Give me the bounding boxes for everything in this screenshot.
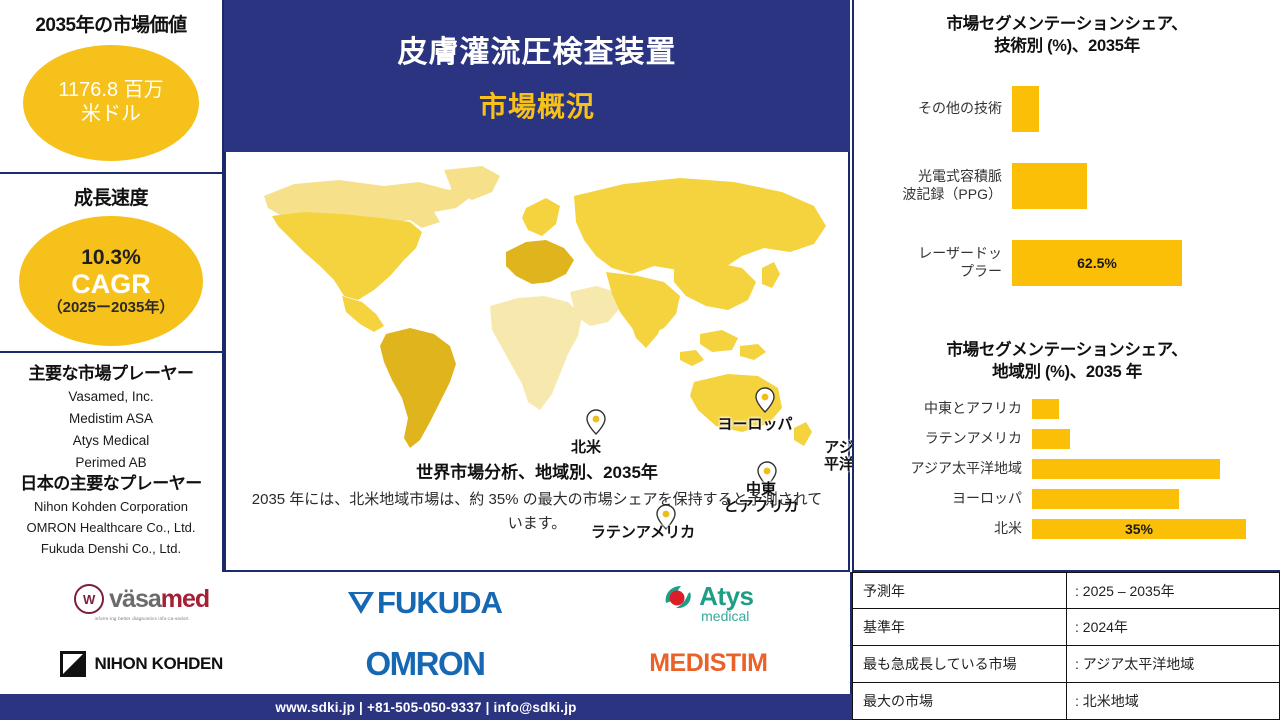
japan-players-block: 日本の主要なプレーヤー Nihon Kohden Corporation OMR… [0, 465, 222, 559]
map-pin-europe [755, 387, 775, 413]
key-players-block: 主要な市場プレーヤー Vasamed, Inc. Medistim ASA At… [0, 353, 222, 465]
omron-wordmark: OMRON [365, 645, 484, 683]
list-item: Atys Medical [0, 430, 222, 452]
bar-europe [1032, 489, 1179, 509]
bar-track [1032, 459, 1280, 479]
bar-laser-doppler: 62.5% [1012, 240, 1182, 286]
map-continents [264, 166, 826, 448]
market-value-ellipse: 1176.8 百万 米ドル [23, 45, 199, 161]
footer-text: www.sdki.jp | +81-505-050-9337 | info@sd… [275, 700, 576, 715]
bar-label: アジア太平洋地域 [854, 460, 1032, 477]
footer-contact-bar: www.sdki.jp | +81-505-050-9337 | info@sd… [0, 694, 852, 720]
map-pin-north-america [586, 409, 606, 435]
bar-middle-east-africa [1032, 399, 1059, 419]
atys-subtitle: medical [701, 608, 749, 624]
growth-rate-title: 成長速度 [0, 183, 222, 210]
world-map: 北米 ヨーロッパ 中東 とアフリカ アジア太 平洋地域 ラテンアメリカ [226, 156, 848, 456]
logo-medistim: MEDISTIM [649, 649, 767, 678]
key-players-list: Vasamed, Inc. Medistim ASA Atys Medical … [0, 386, 222, 473]
list-item: Fukuda Denshi Co., Ltd. [0, 538, 222, 559]
bar-row: ラテンアメリカ [854, 429, 1280, 449]
nihon-kohden-mark-icon [60, 651, 86, 677]
japan-players-title: 日本の主要なプレーヤー [0, 469, 222, 494]
summary-table: 予測年 : 2025 – 2035年 基準年 : 2024年 最も急成長している… [852, 572, 1280, 720]
table-cell-key: 予測年 [852, 573, 1067, 608]
nihon-kohden-wordmark: NIHON KOHDEN [94, 654, 222, 674]
map-description: 2035 年には、北米地域市場は、約 35% の最大の市場シェアを保持すると予測… [248, 488, 826, 536]
world-map-svg [234, 156, 844, 456]
bar-track: 62.5% [1012, 240, 1280, 286]
bar-label: ラテンアメリカ [854, 430, 1032, 447]
logo-vasamed: W väsamed inform-ing better diagnostics … [74, 584, 209, 621]
right-sidebar: 市場セグメンテーションシェア、 技術別 (%)、2035年 その他の技術 光電式… [852, 0, 1280, 572]
market-value-title: 2035年の市場価値 [0, 10, 222, 37]
bar-label: 中東とアフリカ [854, 400, 1032, 417]
left-sidebar: 2035年の市場価値 1176.8 百万 米ドル 成長速度 10.3% CAGR… [0, 0, 224, 572]
map-label-north-america: 北米 [556, 439, 616, 456]
infographic-page: 2035年の市場価値 1176.8 百万 米ドル 成長速度 10.3% CAGR… [0, 0, 1280, 720]
bar-label: 北米 [854, 520, 1032, 537]
bar-row: その他の技術 [854, 86, 1280, 132]
bar-row: 光電式容積脈 波記録（PPG） [854, 163, 1280, 209]
header-banner: 皮膚灌流圧検査装置 市場概況 [224, 0, 850, 152]
atys-leaf-icon [663, 583, 693, 611]
partner-logos: W väsamed inform-ing better diagnostics … [0, 572, 852, 694]
bar-row: レーザードッ プラー 62.5% [854, 240, 1280, 286]
key-players-title: 主要な市場プレーヤー [0, 359, 222, 384]
bar-row: アジア太平洋地域 [854, 459, 1280, 479]
bar-asia-pacific [1032, 459, 1220, 479]
bar-row: 北米 35% [854, 519, 1280, 539]
list-item: Vasamed, Inc. [0, 386, 222, 408]
table-row: 基準年 : 2024年 [852, 609, 1280, 646]
japan-players-list: Nihon Kohden Corporation OMRON Healthcar… [0, 496, 222, 559]
map-label-europe: ヨーロッパ [696, 416, 814, 433]
logo-omron: OMRON [365, 645, 484, 683]
list-item: OMRON Healthcare Co., Ltd. [0, 517, 222, 538]
fukuda-triangle-icon [348, 592, 374, 614]
bar-track [1032, 399, 1280, 419]
market-value-amount-line2: 米ドル [81, 103, 141, 127]
table-cell-value: : 2025 – 2035年 [1067, 573, 1280, 608]
cagr-ellipse: 10.3% CAGR （2025ー2035年） [19, 216, 203, 346]
table-cell-key: 最も急成長している市場 [852, 646, 1067, 682]
table-row: 予測年 : 2025 – 2035年 [852, 572, 1280, 609]
growth-rate-block: 成長速度 10.3% CAGR （2025ー2035年） [0, 174, 222, 353]
bar-row: 中東とアフリカ [854, 399, 1280, 419]
page-subtitle: 市場概況 [479, 85, 595, 125]
logo-atys: Atys medical [663, 581, 753, 624]
technology-chart: 市場セグメンテーションシェア、 技術別 (%)、2035年 その他の技術 光電式… [854, 14, 1280, 286]
bar-label: 光電式容積脈 波記録（PPG） [854, 168, 1012, 202]
bar-north-america: 35% [1032, 519, 1246, 539]
bar-label: レーザードッ プラー [854, 245, 1012, 279]
map-panel: 北米 ヨーロッパ 中東 とアフリカ アジア太 平洋地域 ラテンアメリカ 世界市場… [224, 152, 850, 572]
market-value-amount-line1: 1176.8 百万 [58, 79, 163, 103]
list-item: Nihon Kohden Corporation [0, 496, 222, 517]
logo-nihon-kohden: NIHON KOHDEN [60, 651, 222, 677]
page-title: 皮膚灌流圧検査装置 [398, 27, 677, 71]
bar-track [1032, 429, 1280, 449]
table-cell-value: : 北米地域 [1067, 683, 1280, 719]
bar-label: その他の技術 [854, 100, 1012, 117]
bar-label: ヨーロッパ [854, 490, 1032, 507]
market-value-block: 2035年の市場価値 1176.8 百万 米ドル [0, 0, 222, 174]
bar-track [1012, 163, 1280, 209]
map-caption: 世界市場分析、地域別、2035年 [226, 458, 848, 483]
table-row: 最も急成長している市場 : アジア太平洋地域 [852, 646, 1280, 683]
cagr-period: （2025ー2035年） [48, 299, 175, 317]
vasamed-tagline: inform-ing better diagnostics info-ca-se… [95, 616, 189, 621]
bar-track: 35% [1032, 519, 1280, 539]
list-item: Medistim ASA [0, 408, 222, 430]
regional-chart-title: 市場セグメンテーションシェア、 地域別 (%)、2035 年 [854, 340, 1280, 384]
cagr-label: CAGR [71, 270, 151, 298]
cagr-value: 10.3% [81, 246, 141, 271]
table-cell-key: 最大の市場 [852, 683, 1067, 719]
bar-row: ヨーロッパ [854, 489, 1280, 509]
bar-ppg [1012, 163, 1087, 209]
regional-chart: 市場セグメンテーションシェア、 地域別 (%)、2035 年 中東とアフリカ ラ… [854, 340, 1280, 539]
medistim-wordmark: MEDISTIM [649, 649, 767, 678]
bar-value: 35% [1125, 521, 1153, 537]
vasamed-wordmark: väsamed [109, 585, 209, 614]
bar-latin-america [1032, 429, 1070, 449]
bar-track [1032, 489, 1280, 509]
fukuda-wordmark: FUKUDA [377, 585, 502, 621]
vasamed-mark-icon: W [74, 584, 104, 614]
bar-track [1012, 86, 1280, 132]
table-cell-value: : 2024年 [1067, 609, 1280, 645]
technology-chart-title: 市場セグメンテーションシェア、 技術別 (%)、2035年 [854, 14, 1280, 58]
bar-others [1012, 86, 1039, 132]
bar-value: 62.5% [1077, 255, 1117, 271]
table-row: 最大の市場 : 北米地域 [852, 683, 1280, 720]
table-cell-key: 基準年 [852, 609, 1067, 645]
table-cell-value: : アジア太平洋地域 [1067, 646, 1280, 682]
logo-fukuda: FUKUDA [348, 585, 502, 621]
